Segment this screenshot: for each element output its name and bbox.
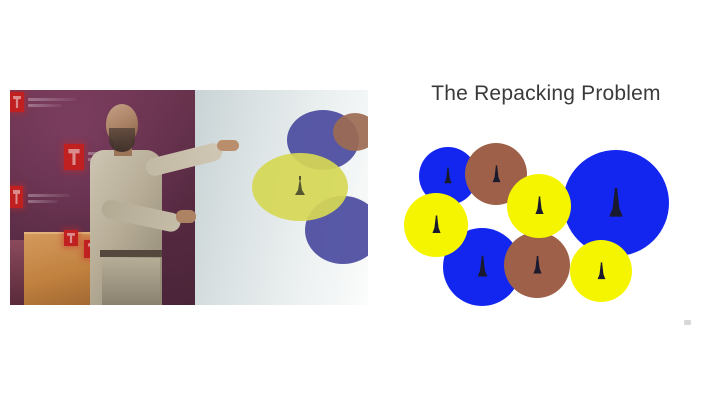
coverage-circle-brown-bottom[interactable] xyxy=(504,232,570,298)
broadcast-tower-icon xyxy=(476,255,489,279)
speaker-beard xyxy=(109,128,135,152)
speaker-legs xyxy=(102,258,160,305)
coverage-circle-yellow-middle[interactable] xyxy=(507,174,571,238)
preview-tower-icon xyxy=(291,176,309,198)
broadcast-tower-icon xyxy=(491,165,502,184)
speaker-lower-hand xyxy=(176,210,196,223)
broadcast-tower-icon xyxy=(596,262,607,281)
coverage-circle-yellow-bottom-right[interactable] xyxy=(570,240,632,302)
corner-mark xyxy=(684,320,691,325)
logo-badge xyxy=(10,186,23,208)
broadcast-tower-icon xyxy=(443,167,453,185)
broadcast-tower-icon xyxy=(431,215,442,235)
speaker-open-hand xyxy=(217,140,239,151)
slide-canvas: The Repacking Problem xyxy=(0,0,720,405)
wall-caption-line xyxy=(28,200,58,203)
speaker-belt xyxy=(100,250,162,257)
broadcast-tower-icon xyxy=(532,255,543,276)
logo-badge xyxy=(64,144,84,170)
coverage-circle-blue-large-right[interactable] xyxy=(563,150,669,256)
broadcast-tower-icon xyxy=(534,196,545,216)
preview-yellow-mid-circle xyxy=(252,153,348,221)
coverage-circle-cluster xyxy=(372,60,720,350)
slide-content: The Repacking Problem xyxy=(372,60,720,350)
wall-caption-line xyxy=(28,194,70,197)
wall-caption-line xyxy=(28,98,76,101)
projection-screen xyxy=(195,90,368,305)
logo-badge xyxy=(64,230,78,246)
coverage-circle-yellow-left[interactable] xyxy=(404,193,468,257)
presentation-video-frame[interactable] xyxy=(10,90,368,305)
broadcast-tower-icon xyxy=(607,187,625,220)
logo-badge xyxy=(10,92,24,112)
wall-caption-line xyxy=(28,104,62,107)
